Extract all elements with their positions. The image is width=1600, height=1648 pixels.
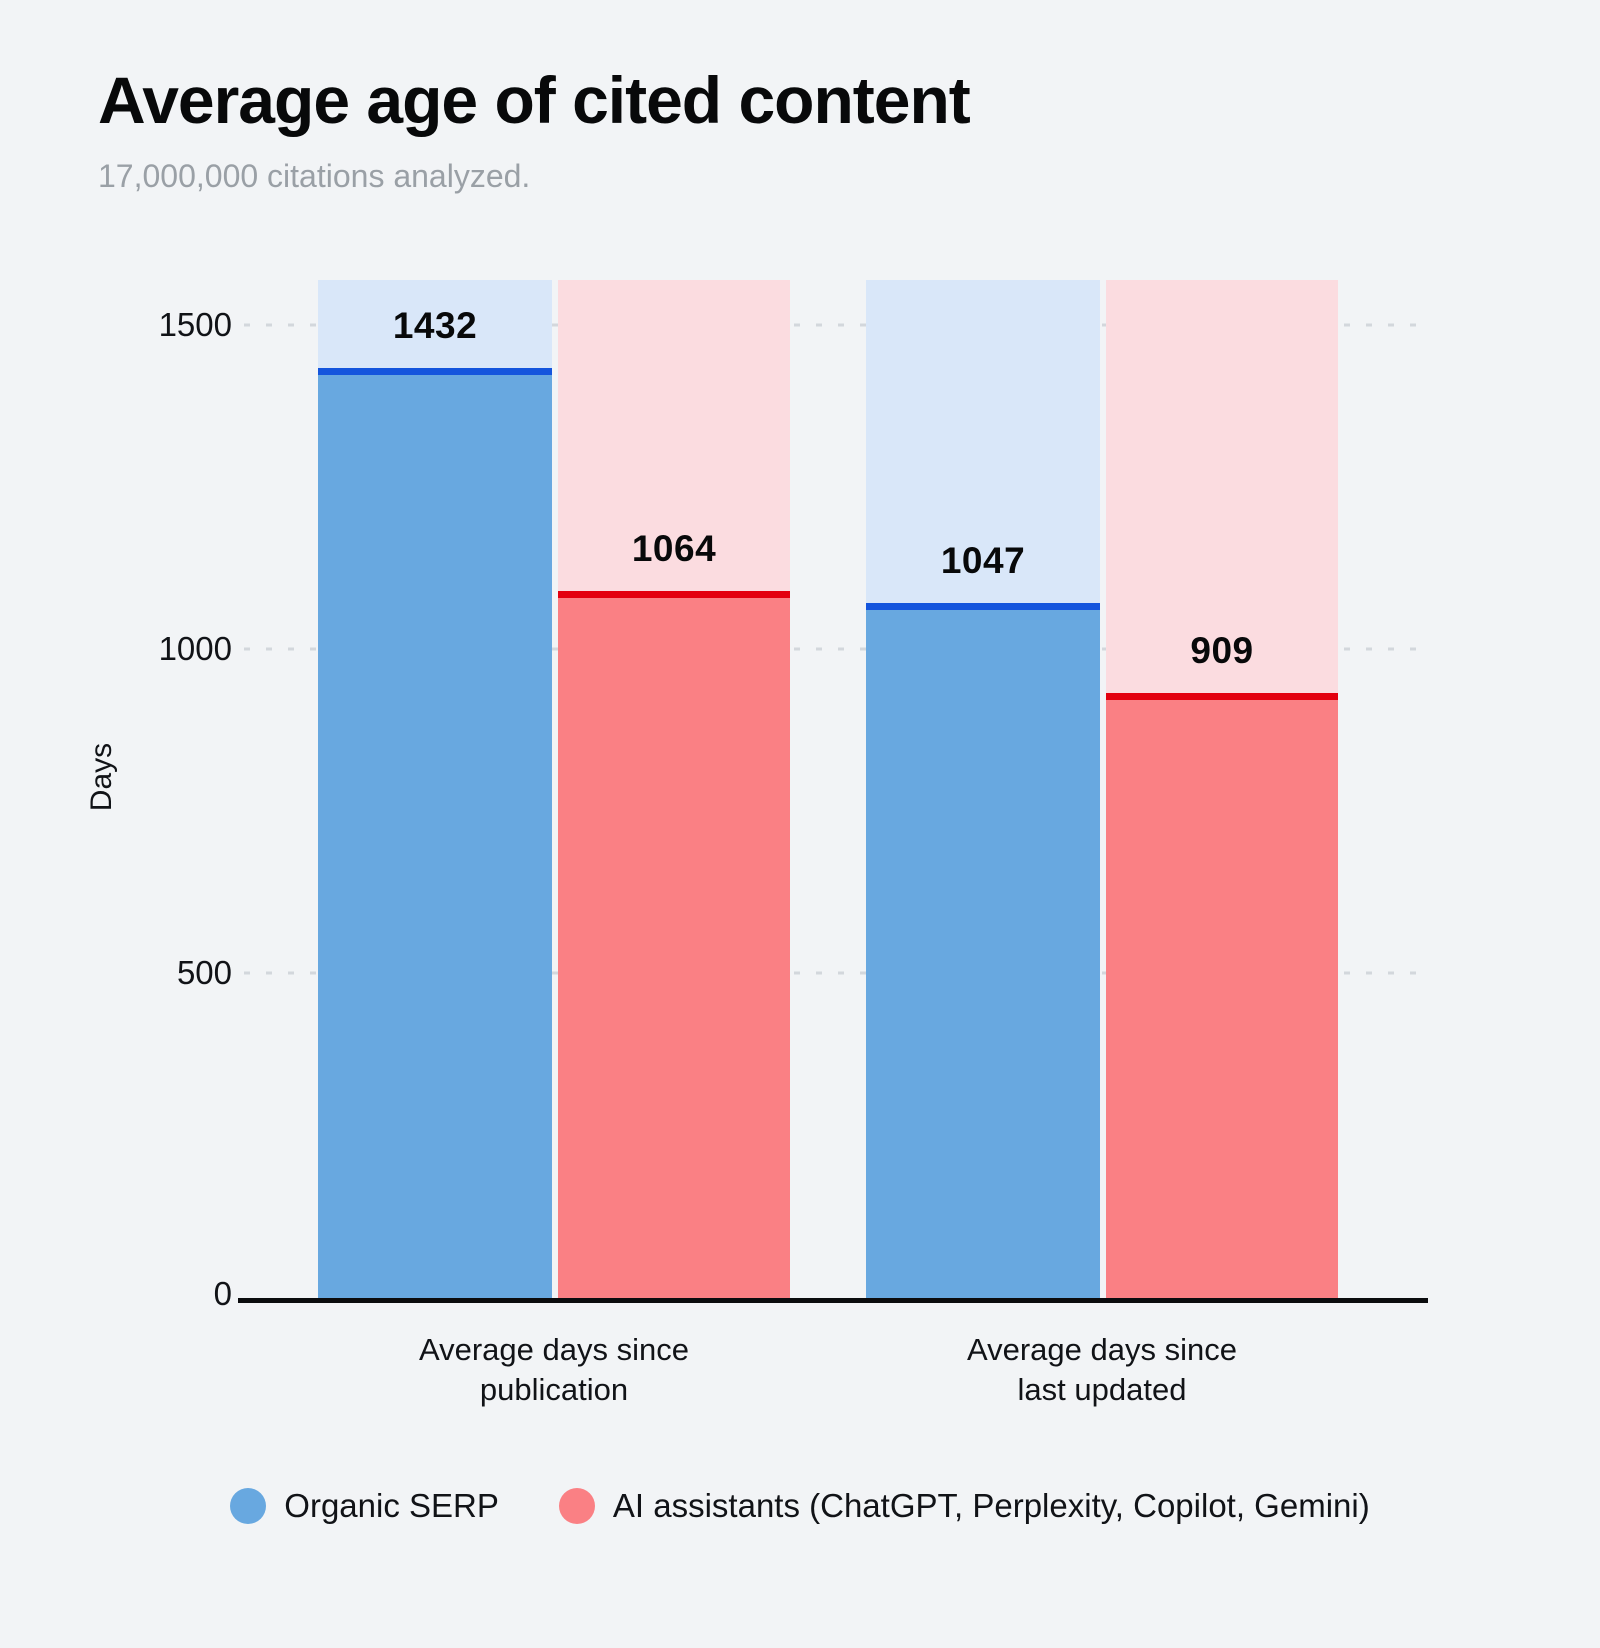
- bar-fill: [318, 368, 552, 1298]
- y-tick-1000: 1000: [120, 630, 232, 668]
- category-label-line1: Average days since: [398, 1330, 710, 1370]
- y-tick-0: 0: [120, 1275, 232, 1313]
- bar-organic-lastupdated[interactable]: 1047: [866, 280, 1100, 1298]
- legend-item-organic-serp[interactable]: Organic SERP: [230, 1487, 499, 1525]
- legend-swatch-icon: [230, 1488, 266, 1524]
- legend-label: AI assistants (ChatGPT, Perplexity, Copi…: [613, 1487, 1370, 1525]
- legend-swatch-icon: [559, 1488, 595, 1524]
- category-label-publication: Average days since publication: [398, 1330, 710, 1409]
- legend-item-ai-assistants[interactable]: AI assistants (ChatGPT, Perplexity, Copi…: [559, 1487, 1370, 1525]
- bar-value-label: 909: [1106, 630, 1338, 672]
- bar-fill: [866, 603, 1100, 1298]
- category-label-line1: Average days since: [946, 1330, 1258, 1370]
- bar-organic-publication[interactable]: 1432: [318, 280, 552, 1298]
- category-label-lastupdated: Average days since last updated: [946, 1330, 1258, 1409]
- bar-value-label: 1064: [558, 528, 790, 570]
- bar-value-label: 1432: [318, 305, 552, 347]
- y-tick-500: 500: [120, 954, 232, 992]
- bar-ai-lastupdated[interactable]: 909: [1106, 280, 1338, 1298]
- category-label-line2: last updated: [946, 1370, 1258, 1410]
- bar-ai-publication[interactable]: 1064: [558, 280, 790, 1298]
- y-tick-1500: 1500: [120, 306, 232, 344]
- chart-legend: Organic SERP AI assistants (ChatGPT, Per…: [0, 1487, 1600, 1525]
- plot-area: Days 1500 1000 500 0 1432 1064 1047: [0, 0, 1600, 1648]
- category-label-line2: publication: [398, 1370, 710, 1410]
- chart-page: Average age of cited content 17,000,000 …: [0, 0, 1600, 1648]
- bar-fill: [558, 591, 790, 1298]
- legend-label: Organic SERP: [284, 1487, 499, 1525]
- x-axis-line: [238, 1298, 1428, 1303]
- bar-value-label: 1047: [866, 540, 1100, 582]
- y-axis-title: Days: [85, 657, 119, 897]
- bar-fill: [1106, 693, 1338, 1298]
